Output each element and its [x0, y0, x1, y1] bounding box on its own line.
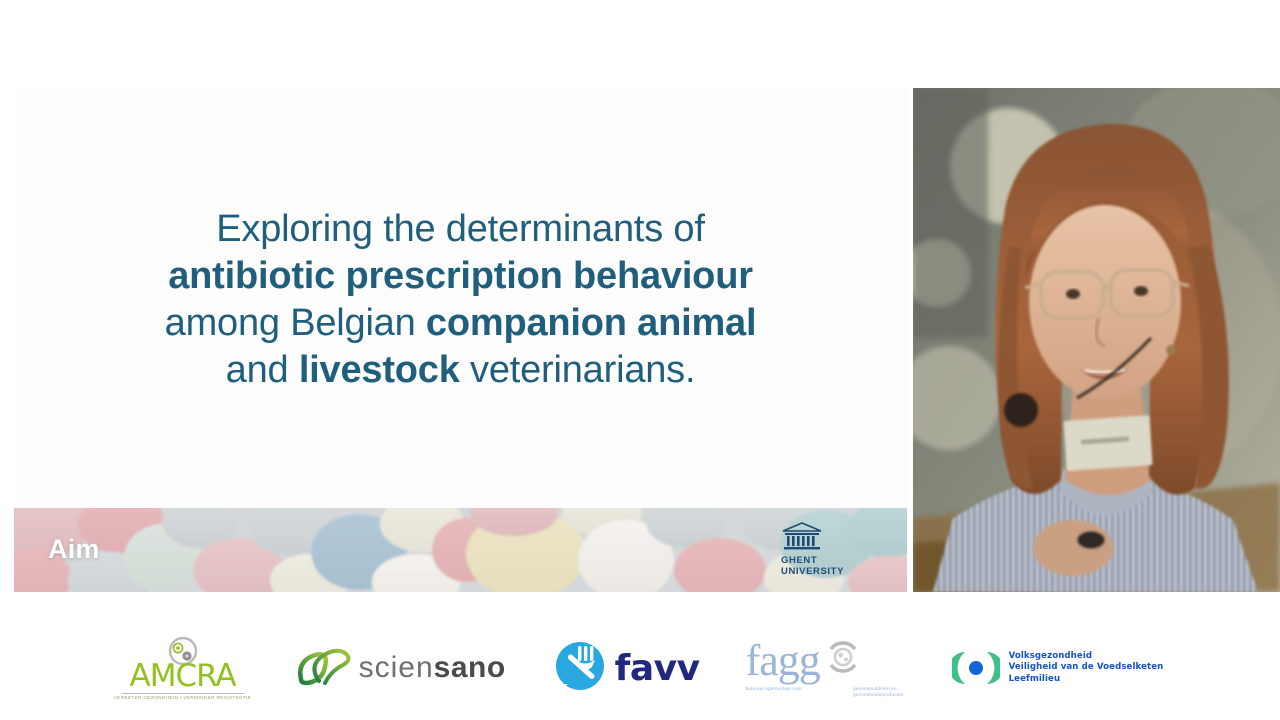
- slide-canvas: Exploring the determinants of antibiotic…: [0, 0, 1280, 720]
- fagg-tagline-row: federaal agentschap voor geneesmiddelen …: [746, 687, 904, 699]
- favv-wordmark: favv: [615, 648, 700, 689]
- ghent-university-logo: GHENT UNIVERSITY: [781, 522, 861, 577]
- pastel-pills-background-image: [14, 508, 907, 592]
- title-line-4-plain-a: and: [226, 349, 299, 391]
- fagg-tagline-right-2: gezondheidsproducten: [853, 693, 904, 699]
- title-line-4: and livestock veterinarians.: [14, 347, 907, 394]
- title-line-3-bold: companion animal: [426, 302, 756, 344]
- name-badge: [1063, 415, 1152, 471]
- volksgezondheid-line-3: Leefmilieu: [1009, 674, 1164, 686]
- partner-logo-strip: AMCRA VERBETER GEZONDHEID • VERMINDER RE…: [0, 618, 1280, 718]
- fagg-tagline-left: federaal agentschap voor: [746, 687, 803, 699]
- volksgezondheid-line-2: Veiligheid van de Voedselketen: [1009, 662, 1164, 674]
- amcra-tagline: VERBETER GEZONDHEID • VERMINDER RESISTEN…: [114, 695, 252, 700]
- fagg-row: fagg: [746, 637, 862, 685]
- logo-favv: favv: [552, 640, 700, 696]
- sciensano-word-bold: sano: [434, 651, 506, 684]
- title-line-4-bold: livestock: [299, 349, 460, 391]
- title-line-4-plain-b: veterinarians.: [460, 349, 696, 391]
- logo-amcra: AMCRA VERBETER GEZONDHEID • VERMINDER RE…: [117, 637, 249, 700]
- fagg-wordmark: fagg: [746, 641, 820, 681]
- volksgezondheid-text: Volksgezondheid Veiligheid van de Voedse…: [1009, 651, 1164, 686]
- fagg-tagline-right: geneesmiddelen en gezondheidsproducten: [853, 687, 904, 699]
- title-line-3-plain: among Belgian: [165, 302, 426, 344]
- sciensano-word-light: scien: [359, 651, 434, 684]
- volksgezondheid-line-1: Volksgezondheid: [1009, 651, 1164, 663]
- fagg-globe-icon: [824, 637, 862, 675]
- amcra-wordmark: AMCRA: [130, 661, 236, 691]
- logo-sciensano: sciensano: [295, 645, 506, 691]
- title-line-2: antibiotic prescription behaviour: [14, 253, 907, 300]
- sciensano-wordmark: sciensano: [359, 651, 506, 685]
- favv-fork-knife-icon: [552, 640, 608, 696]
- slide-title: Exploring the determinants of antibiotic…: [14, 206, 907, 394]
- speaker-photo: [913, 88, 1280, 592]
- volksgezondheid-mark-icon: [952, 644, 1000, 692]
- title-line-3: among Belgian companion animal: [14, 300, 907, 347]
- logo-fagg: fagg federaal agentschap voor geneesmidd…: [746, 637, 906, 699]
- logo-volksgezondheid: Volksgezondheid Veiligheid van de Voedse…: [952, 644, 1164, 692]
- sciensano-leaf-icon: [295, 645, 353, 691]
- ghent-logo-line-1: GHENT: [781, 555, 861, 566]
- speaker-presenting-image: [913, 88, 1280, 592]
- classical-building-icon: [781, 522, 823, 552]
- aim-banner: Aim GHENT UNIVERSITY: [14, 508, 907, 592]
- amcra-divider: [122, 693, 244, 694]
- title-line-2-bold: antibiotic prescription behaviour: [168, 255, 753, 297]
- section-label-aim: Aim: [48, 534, 100, 565]
- title-line-1: Exploring the determinants of: [14, 206, 907, 253]
- ghent-logo-line-2: UNIVERSITY: [781, 566, 861, 577]
